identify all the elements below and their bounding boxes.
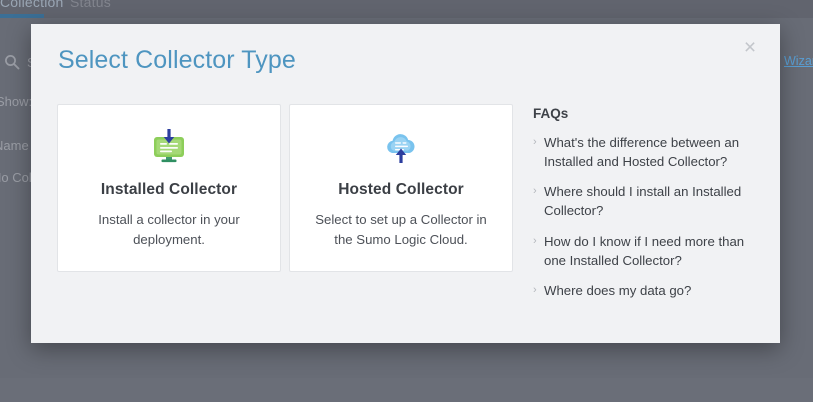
faq-section: FAQs › What's the difference between an … [533,106,758,313]
close-icon[interactable]: × [737,35,763,61]
select-collector-type-dialog: Select Collector Type × [31,24,780,343]
installed-collector-card[interactable]: Installed Collector Install a collector … [57,104,281,272]
show-filter-label[interactable]: Show: [0,94,32,109]
faq-item-label: Where does my data go? [544,282,691,301]
search-icon[interactable] [4,54,20,70]
faq-item-label: How do I know if I need more than one In… [544,233,758,270]
faq-item-data-destination[interactable]: › Where does my data go? [533,282,758,301]
collector-type-card-list: Installed Collector Install a collector … [57,104,513,272]
hosted-collector-card[interactable]: Hosted Collector Select to set up a Coll… [289,104,513,272]
wizard-link[interactable]: Wizard [784,54,813,68]
chevron-right-icon: › [533,183,544,200]
hosted-collector-icon [379,127,423,169]
installed-collector-description: Install a collector in your deployment. [76,210,262,249]
tab-status[interactable]: Status [70,0,111,10]
chevron-right-icon: › [533,134,544,151]
dialog-title: Select Collector Type [58,46,296,75]
hosted-collector-title: Hosted Collector [338,181,464,199]
faq-heading: FAQs [533,106,758,121]
faq-item-label: What's the difference between an Install… [544,134,758,171]
background-bottom-area [0,378,813,402]
faq-item-how-many[interactable]: › How do I know if I need more than one … [533,233,758,270]
faq-item-where-install[interactable]: › Where should I install an Installed Co… [533,183,758,220]
column-header-name[interactable]: Name [0,138,29,153]
tab-collection[interactable]: Collection [0,0,63,10]
faq-item-label: Where should I install an Installed Coll… [544,183,758,220]
installed-collector-title: Installed Collector [101,181,237,199]
installed-collector-icon [147,127,191,169]
faq-item-difference[interactable]: › What's the difference between an Insta… [533,134,758,171]
background-tabbar: Collection Status [0,0,813,18]
hosted-collector-description: Select to set up a Collector in the Sumo… [308,210,494,249]
chevron-right-icon: › [533,282,544,299]
chevron-right-icon: › [533,233,544,250]
